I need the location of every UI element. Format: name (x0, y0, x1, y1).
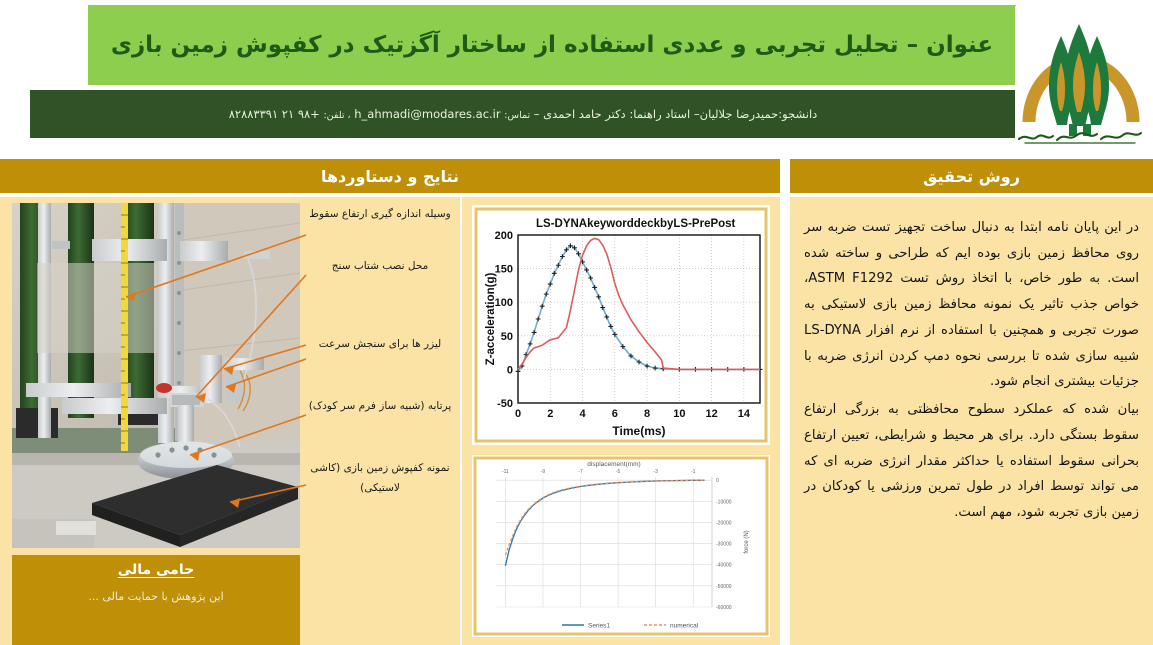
section-header-results: نتایج و دستاوردها (0, 159, 780, 193)
callout-playground-tile-sample: نمونه کفپوش زمین بازی (کاشی لاستیکی) (305, 459, 455, 499)
svg-text:-50000: -50000 (716, 584, 732, 590)
svg-text:8: 8 (644, 408, 650, 420)
svg-text:Z-acceleration(g): Z-acceleration(g) (485, 273, 497, 366)
method-paragraph-2: بیان شده که عملکرد سطوح محافظتی به بزرگی… (804, 397, 1139, 526)
contact-label: تماس: (504, 110, 530, 121)
svg-text:force (N): force (N) (744, 530, 750, 553)
callout-drop-height-gauge: وسیله اندازه گیری ارتفاع سقوط (305, 205, 455, 225)
poster-header: عنوان – تحلیل تجربی و عددی استفاده از سا… (0, 0, 1153, 150)
method-panel: در این پایان نامه ابتدا به دنبال ساخت تج… (790, 197, 1153, 645)
drop-test-rig-photo (12, 203, 300, 548)
poster-root: عنوان – تحلیل تجربی و عددی استفاده از سا… (0, 0, 1153, 645)
method-text-body: در این پایان نامه ابتدا به دنبال ساخت تج… (804, 215, 1139, 528)
method-paragraph-1: در این پایان نامه ابتدا به دنبال ساخت تج… (804, 215, 1139, 395)
svg-text:0: 0 (507, 364, 513, 376)
svg-text:-50: -50 (497, 398, 513, 410)
phone-label: ، تلفن: (323, 110, 350, 121)
svg-text:150: 150 (495, 264, 513, 276)
svg-text:0: 0 (716, 478, 719, 484)
svg-text:Time(ms): Time(ms) (612, 424, 665, 438)
svg-text:Series1: Series1 (588, 623, 610, 630)
authors-line: دانشجو:حمیدرضا جلالیان– استاد راهنما: دک… (219, 107, 828, 121)
photo-callouts: وسیله اندازه گیری ارتفاع سقوط محل نصب شت… (300, 197, 460, 542)
svg-text:0: 0 (515, 408, 521, 420)
svg-text:200: 200 (495, 230, 513, 242)
tarbiat-modares-university-logo (1015, 6, 1145, 148)
svg-text:12: 12 (705, 408, 717, 420)
section-header-method: روش تحقیق (790, 159, 1153, 193)
svg-text:-3: -3 (653, 469, 658, 475)
svg-text:50: 50 (501, 331, 513, 343)
svg-text:-11: -11 (502, 469, 509, 475)
svg-text:-20000: -20000 (716, 520, 732, 526)
svg-text:-40000: -40000 (716, 563, 732, 569)
svg-text:14: 14 (738, 408, 751, 420)
poster-title-bar: عنوان – تحلیل تجربی و عددی استفاده از سا… (88, 5, 1016, 85)
callout-speed-lasers: لیزر ها برای سنجش سرعت (305, 335, 455, 355)
svg-text:-1: -1 (691, 469, 696, 475)
contact-email[interactable]: h_ahmadi@modares.ac.ir (354, 107, 500, 121)
callout-accelerometer-mount: محل نصب شتاب سنج (305, 257, 455, 277)
page-title: عنوان – تحلیل تجربی و عددی استفاده از سا… (97, 31, 1007, 60)
svg-text:numerical: numerical (670, 623, 699, 630)
sponsor-box: حامی مالی این پژوهش با حمایت مالی ... (12, 555, 300, 645)
sponsor-body: این پژوهش با حمایت مالی ... (12, 590, 300, 603)
section-header-results-label: نتایج و دستاوردها (321, 167, 459, 186)
svg-text:-7: -7 (578, 469, 583, 475)
svg-text:100: 100 (495, 297, 513, 309)
svg-text:-60000: -60000 (716, 605, 732, 611)
svg-text:LS-DYNAkeyworddeckbyLS-PrePost: LS-DYNAkeyworddeckbyLS-PrePost (536, 218, 736, 230)
svg-text:10: 10 (673, 408, 685, 420)
results-photo-panel: وسیله اندازه گیری ارتفاع سقوط محل نصب شت… (0, 197, 460, 645)
svg-text:2: 2 (547, 408, 553, 420)
callout-headform-projectile: پرتابه (شبیه ساز فرم سر کودک) (305, 397, 455, 417)
force-displacement-chart: -11-9-7-5-3-10-10000-20000-30000-40000-5… (472, 455, 770, 637)
svg-text:4: 4 (579, 408, 586, 420)
section-header-method-label: روش تحقیق (923, 167, 1020, 186)
svg-text:6: 6 (612, 408, 618, 420)
svg-text:-10000: -10000 (716, 499, 732, 505)
sponsor-title: حامی مالی (12, 562, 300, 578)
svg-text:-9: -9 (541, 469, 546, 475)
svg-text:displacement(mm): displacement(mm) (587, 461, 640, 468)
acceleration-time-chart: 02468101214-50050100150200LS-DYNAkeyword… (472, 205, 770, 445)
results-charts-panel: 02468101214-50050100150200LS-DYNAkeyword… (462, 197, 780, 645)
authors-names: دانشجو:حمیدرضا جلالیان– استاد راهنما: دک… (534, 107, 818, 121)
svg-text:-30000: -30000 (716, 542, 732, 548)
contact-phone: +۹۸ ۲۱ ۸۲۸۸۳۳۹۱ (229, 107, 320, 121)
svg-text:-5: -5 (616, 469, 621, 475)
authors-bar: دانشجو:حمیدرضا جلالیان– استاد راهنما: دک… (30, 90, 1016, 138)
